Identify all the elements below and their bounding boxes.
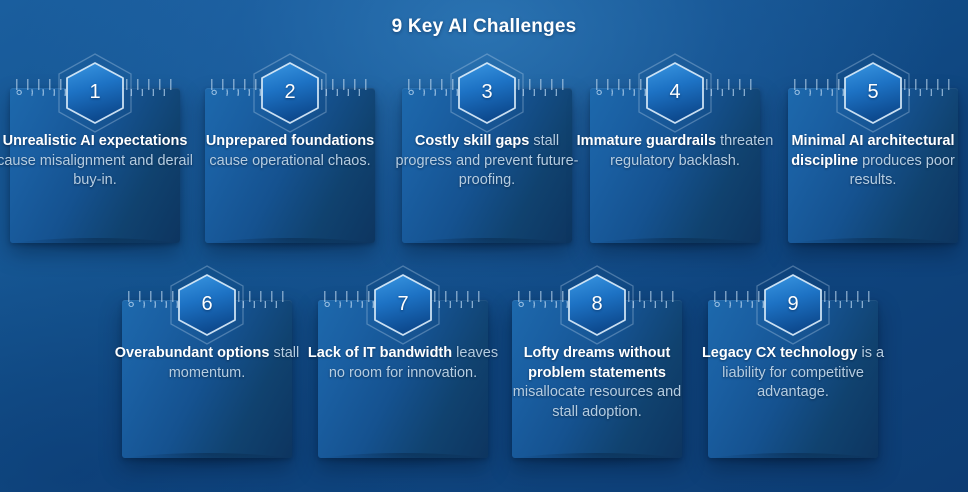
challenge-card[interactable]: 8Lofty dreams without problem statements… <box>512 300 682 458</box>
hexagon-number-badge: 4 <box>635 52 715 134</box>
card-description: misallocate resources and stall adoption… <box>513 384 681 420</box>
hexagon-icon <box>557 264 637 346</box>
hexagon-number-badge: 5 <box>833 52 913 134</box>
binding-rings-icon <box>211 89 369 96</box>
hexagon-number-badge: 6 <box>167 264 247 346</box>
card-heading: Legacy CX technology <box>702 345 858 361</box>
infographic-canvas: 9 Key AI Challenges 1Unrealistic AI expe… <box>0 0 968 492</box>
spiral-binding-icon <box>788 79 958 99</box>
challenge-card[interactable]: 7Lack of IT bandwidth leaves no room for… <box>318 300 488 458</box>
badge-number: 8 <box>557 264 637 346</box>
binding-wires-icon <box>324 291 482 302</box>
spiral-binding-icon <box>402 79 572 99</box>
card-text: Overabundant options stall momentum. <box>108 344 306 383</box>
binding-wires-icon <box>408 79 566 90</box>
card-heading: Unrealistic AI expectations <box>3 133 188 149</box>
binding-wires-icon <box>211 79 369 90</box>
binding-wires-icon <box>518 291 676 302</box>
hexagon-icon <box>833 52 913 134</box>
binding-rings-icon <box>324 301 482 308</box>
card-text: Legacy CX technology is a liability for … <box>694 344 892 403</box>
hexagon-number-badge: 9 <box>753 264 833 346</box>
hexagon-icon <box>55 52 135 134</box>
card-text: Lack of IT bandwidth leaves no room for … <box>304 344 502 383</box>
hexagon-icon <box>635 52 715 134</box>
spiral-binding-icon <box>318 291 488 311</box>
card-text: Immature guardrails threaten regulatory … <box>576 132 774 171</box>
badge-number: 1 <box>55 52 135 134</box>
hexagon-icon <box>363 264 443 346</box>
badge-number: 6 <box>167 264 247 346</box>
page-title: 9 Key AI Challenges <box>0 16 968 38</box>
spiral-binding-icon <box>590 79 760 99</box>
binding-rings-icon <box>714 301 872 308</box>
badge-number: 3 <box>447 52 527 134</box>
card-text: Minimal AI architectural discipline prod… <box>774 132 968 191</box>
challenge-card[interactable]: 9Legacy CX technology is a liability for… <box>708 300 878 458</box>
badge-number: 2 <box>250 52 330 134</box>
card-heading: Lofty dreams without problem statements <box>524 345 671 381</box>
spiral-binding-icon <box>205 79 375 99</box>
challenge-card[interactable]: 4Immature guardrails threaten regulatory… <box>590 88 760 243</box>
card-heading: Lack of IT bandwidth <box>308 345 452 361</box>
binding-wires-icon <box>596 79 754 90</box>
binding-rings-icon <box>16 89 174 96</box>
badge-number: 5 <box>833 52 913 134</box>
hexagon-icon <box>447 52 527 134</box>
challenge-card[interactable]: 2Unprepared foundations cause operationa… <box>205 88 375 243</box>
card-text: Lofty dreams without problem statements … <box>498 344 696 422</box>
binding-rings-icon <box>518 301 676 308</box>
binding-rings-icon <box>794 89 952 96</box>
spiral-binding-icon <box>10 79 180 99</box>
binding-wires-icon <box>714 291 872 302</box>
challenge-card[interactable]: 1Unrealistic AI expectations cause misal… <box>10 88 180 243</box>
hexagon-number-badge: 7 <box>363 264 443 346</box>
hexagon-number-badge: 3 <box>447 52 527 134</box>
card-text: Costly skill gaps stall progress and pre… <box>388 132 586 191</box>
card-text: Unrealistic AI expectations cause misali… <box>0 132 194 191</box>
binding-rings-icon <box>128 301 286 308</box>
badge-number: 4 <box>635 52 715 134</box>
hexagon-icon <box>250 52 330 134</box>
hexagon-icon <box>167 264 247 346</box>
spiral-binding-icon <box>122 291 292 311</box>
card-description: cause misalignment and derail buy-in. <box>0 153 193 189</box>
card-description: produces poor results. <box>850 153 955 189</box>
card-heading: Unprepared foundations <box>206 133 374 149</box>
hexagon-icon <box>753 264 833 346</box>
card-heading: Immature guardrails <box>577 133 716 149</box>
binding-rings-icon <box>408 89 566 96</box>
badge-number: 7 <box>363 264 443 346</box>
hexagon-number-badge: 8 <box>557 264 637 346</box>
hexagon-number-badge: 2 <box>250 52 330 134</box>
challenge-card[interactable]: 3Costly skill gaps stall progress and pr… <box>402 88 572 243</box>
card-heading: Overabundant options <box>115 345 270 361</box>
card-heading: Costly skill gaps <box>415 133 529 149</box>
binding-wires-icon <box>794 79 952 90</box>
binding-rings-icon <box>596 89 754 96</box>
spiral-binding-icon <box>708 291 878 311</box>
binding-wires-icon <box>128 291 286 302</box>
card-description: cause operational chaos. <box>209 153 370 169</box>
badge-number: 9 <box>753 264 833 346</box>
challenge-card[interactable]: 6Overabundant options stall momentum. <box>122 300 292 458</box>
hexagon-number-badge: 1 <box>55 52 135 134</box>
challenge-card[interactable]: 5Minimal AI architectural discipline pro… <box>788 88 958 243</box>
spiral-binding-icon <box>512 291 682 311</box>
binding-wires-icon <box>16 79 174 90</box>
card-text: Unprepared foundations cause operational… <box>191 132 389 171</box>
